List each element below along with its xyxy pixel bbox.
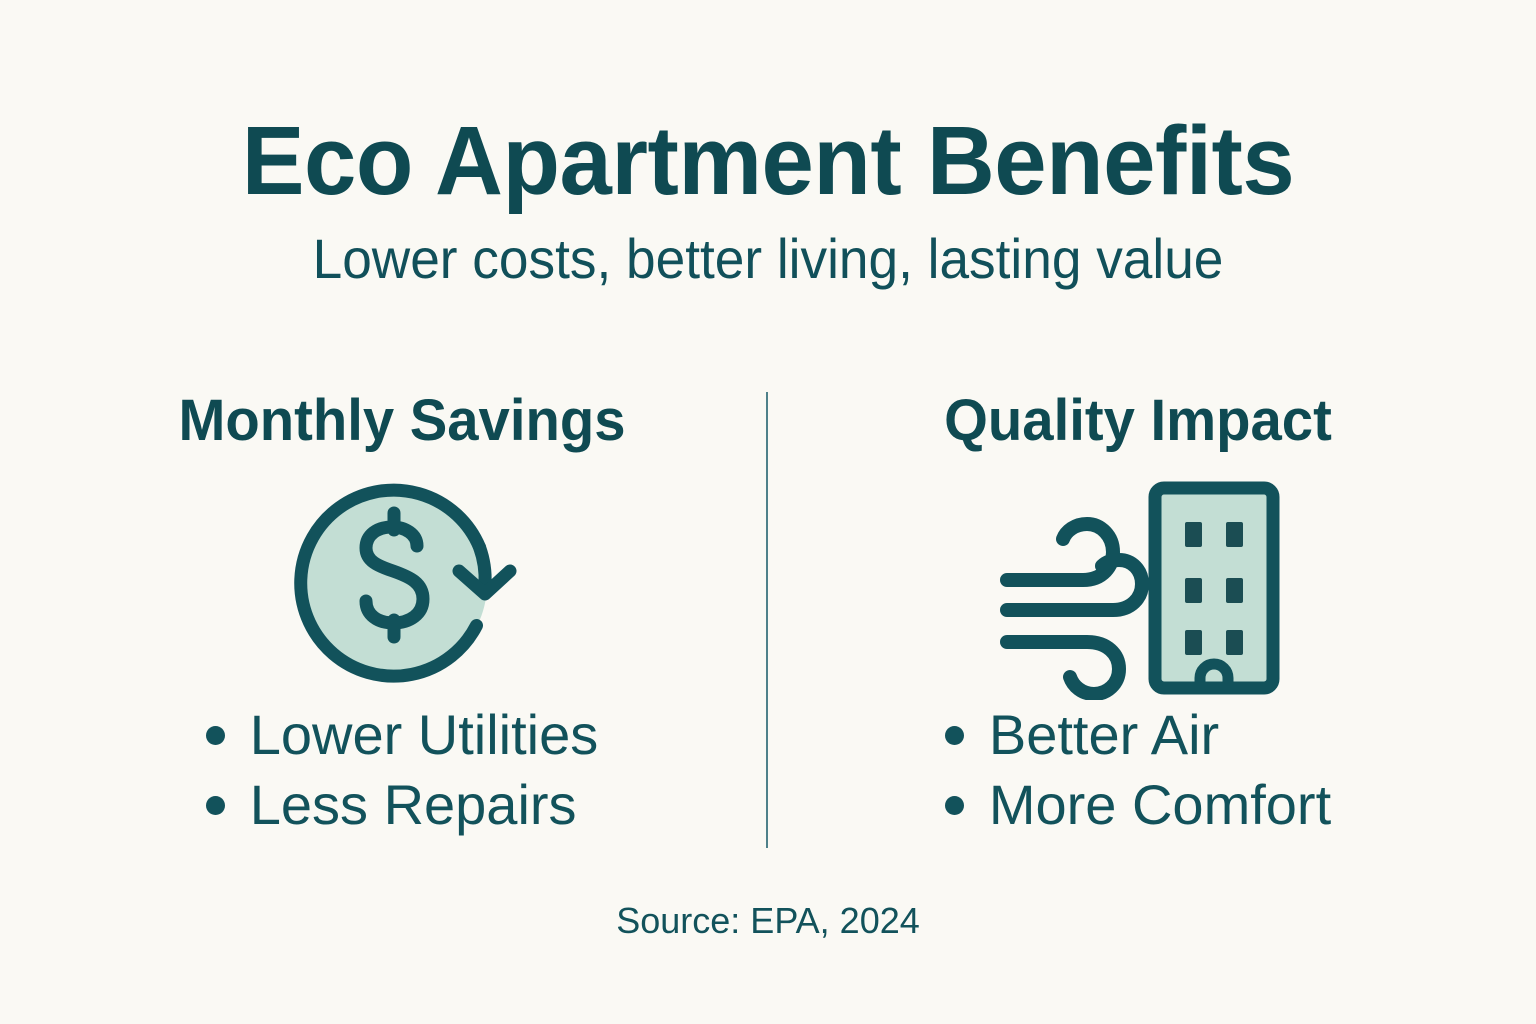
bullet-dot-icon (206, 796, 225, 815)
bullet-list-monthly-savings: Lower Utilities Less Repairs (206, 700, 599, 840)
bullet-dot-icon (945, 796, 964, 815)
bullet-label: Less Repairs (250, 776, 577, 835)
infographic-canvas: Eco Apartment Benefits Lower costs, bett… (0, 0, 1536, 1024)
dollar-circle-arrow-icon (277, 472, 527, 700)
bullet-dot-icon (206, 726, 225, 745)
header: Eco Apartment Benefits Lower costs, bett… (0, 112, 1536, 287)
bullet-label: More Comfort (989, 776, 1331, 835)
column-quality-impact: Quality Impact (778, 392, 1498, 840)
list-item: More Comfort (945, 770, 1331, 840)
bullet-label: Lower Utilities (250, 706, 599, 765)
wind-building-icon (995, 472, 1281, 700)
bullet-list-quality-impact: Better Air More Comfort (945, 700, 1331, 840)
bullet-dot-icon (945, 726, 964, 745)
list-item: Better Air (945, 700, 1331, 770)
column-title-quality-impact: Quality Impact (789, 392, 1487, 450)
list-item: Lower Utilities (206, 700, 599, 770)
page-title: Eco Apartment Benefits (23, 112, 1513, 209)
icon-slot-right (778, 472, 1498, 700)
column-divider (766, 392, 768, 848)
columns-container: Monthly Savings (0, 392, 1536, 862)
page-subtitle: Lower costs, better living, lasting valu… (38, 231, 1497, 287)
column-title-monthly-savings: Monthly Savings (53, 392, 751, 450)
icon-slot-left (42, 472, 762, 700)
source-attribution: Source: EPA, 2024 (0, 900, 1536, 942)
list-item: Less Repairs (206, 770, 599, 840)
column-monthly-savings: Monthly Savings (42, 392, 762, 840)
bullet-label: Better Air (989, 706, 1219, 765)
